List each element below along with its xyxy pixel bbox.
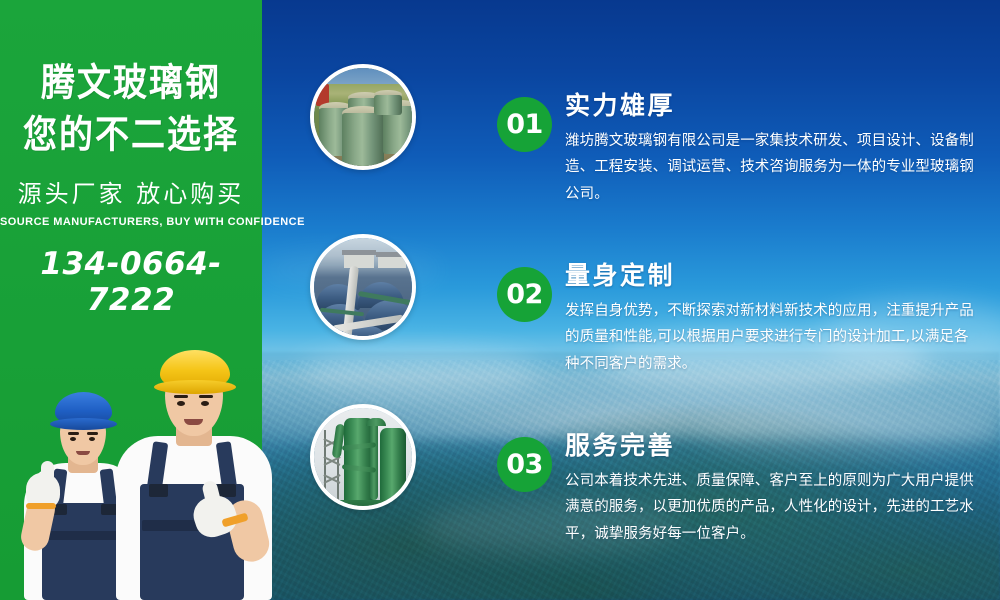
- photo-green-frp-tanks: [314, 68, 412, 166]
- feature-badge-3: 03: [497, 437, 552, 492]
- hard-hat-brim: [154, 380, 236, 394]
- feature-block-1: 实力雄厚 潍坊腾文玻璃钢有限公司是一家集技术研发、项目设计、设备制造、工程安装、…: [565, 92, 980, 207]
- feature-photo-1[interactable]: [310, 64, 416, 170]
- photo-scrubber-towers: [314, 408, 412, 506]
- feature-photo-3[interactable]: [310, 404, 416, 510]
- feature-badge-2: 02: [497, 267, 552, 322]
- feature-title-1: 实力雄厚: [565, 92, 980, 121]
- worker-front: [112, 350, 277, 600]
- feature-body-3: 公司本着技术先进、质量保障、客户至上的原则为广大用户提供满意的服务，以更加优质的…: [565, 468, 980, 547]
- brand-panel: 腾文玻璃钢 您的不二选择 源头厂家 放心购买 SOURCE MANUFACTUR…: [0, 0, 262, 600]
- workers-photo: [0, 350, 300, 600]
- feature-title-2: 量身定制: [565, 262, 980, 291]
- feature-photo-2[interactable]: [310, 234, 416, 340]
- brand-title-line1: 腾文玻璃钢: [0, 62, 262, 105]
- photo-blue-digesters: [314, 238, 412, 336]
- brand-block: 腾文玻璃钢 您的不二选择 源头厂家 放心购买 SOURCE MANUFACTUR…: [0, 62, 262, 318]
- brand-slogan-cn: 源头厂家 放心购买: [0, 174, 262, 209]
- feature-block-3: 服务完善 公司本着技术先进、质量保障、客户至上的原则为广大用户提供满意的服务，以…: [565, 432, 980, 547]
- feature-body-2: 发挥自身优势，不断探索对新材料新技术的应用，注重提升产品的质量和性能,可以根据用…: [565, 298, 980, 377]
- contact-phone-number[interactable]: 134-0664-7222: [0, 246, 262, 318]
- feature-badge-1: 01: [497, 97, 552, 152]
- feature-body-1: 潍坊腾文玻璃钢有限公司是一家集技术研发、项目设计、设备制造、工程安装、调试运营、…: [565, 128, 980, 207]
- brand-slogan-en: SOURCE MANUFACTURERS, BUY WITH CONFIDENC…: [0, 216, 262, 228]
- hard-hat-brim: [50, 418, 117, 430]
- feature-title-3: 服务完善: [565, 432, 980, 461]
- brand-title-line2: 您的不二选择: [0, 114, 262, 157]
- cloud-wisp: [300, 348, 540, 394]
- feature-block-2: 量身定制 发挥自身优势，不断探索对新材料新技术的应用，注重提升产品的质量和性能,…: [565, 262, 980, 377]
- promo-banner: 腾文玻璃钢 您的不二选择 源头厂家 放心购买 SOURCE MANUFACTUR…: [0, 0, 1000, 600]
